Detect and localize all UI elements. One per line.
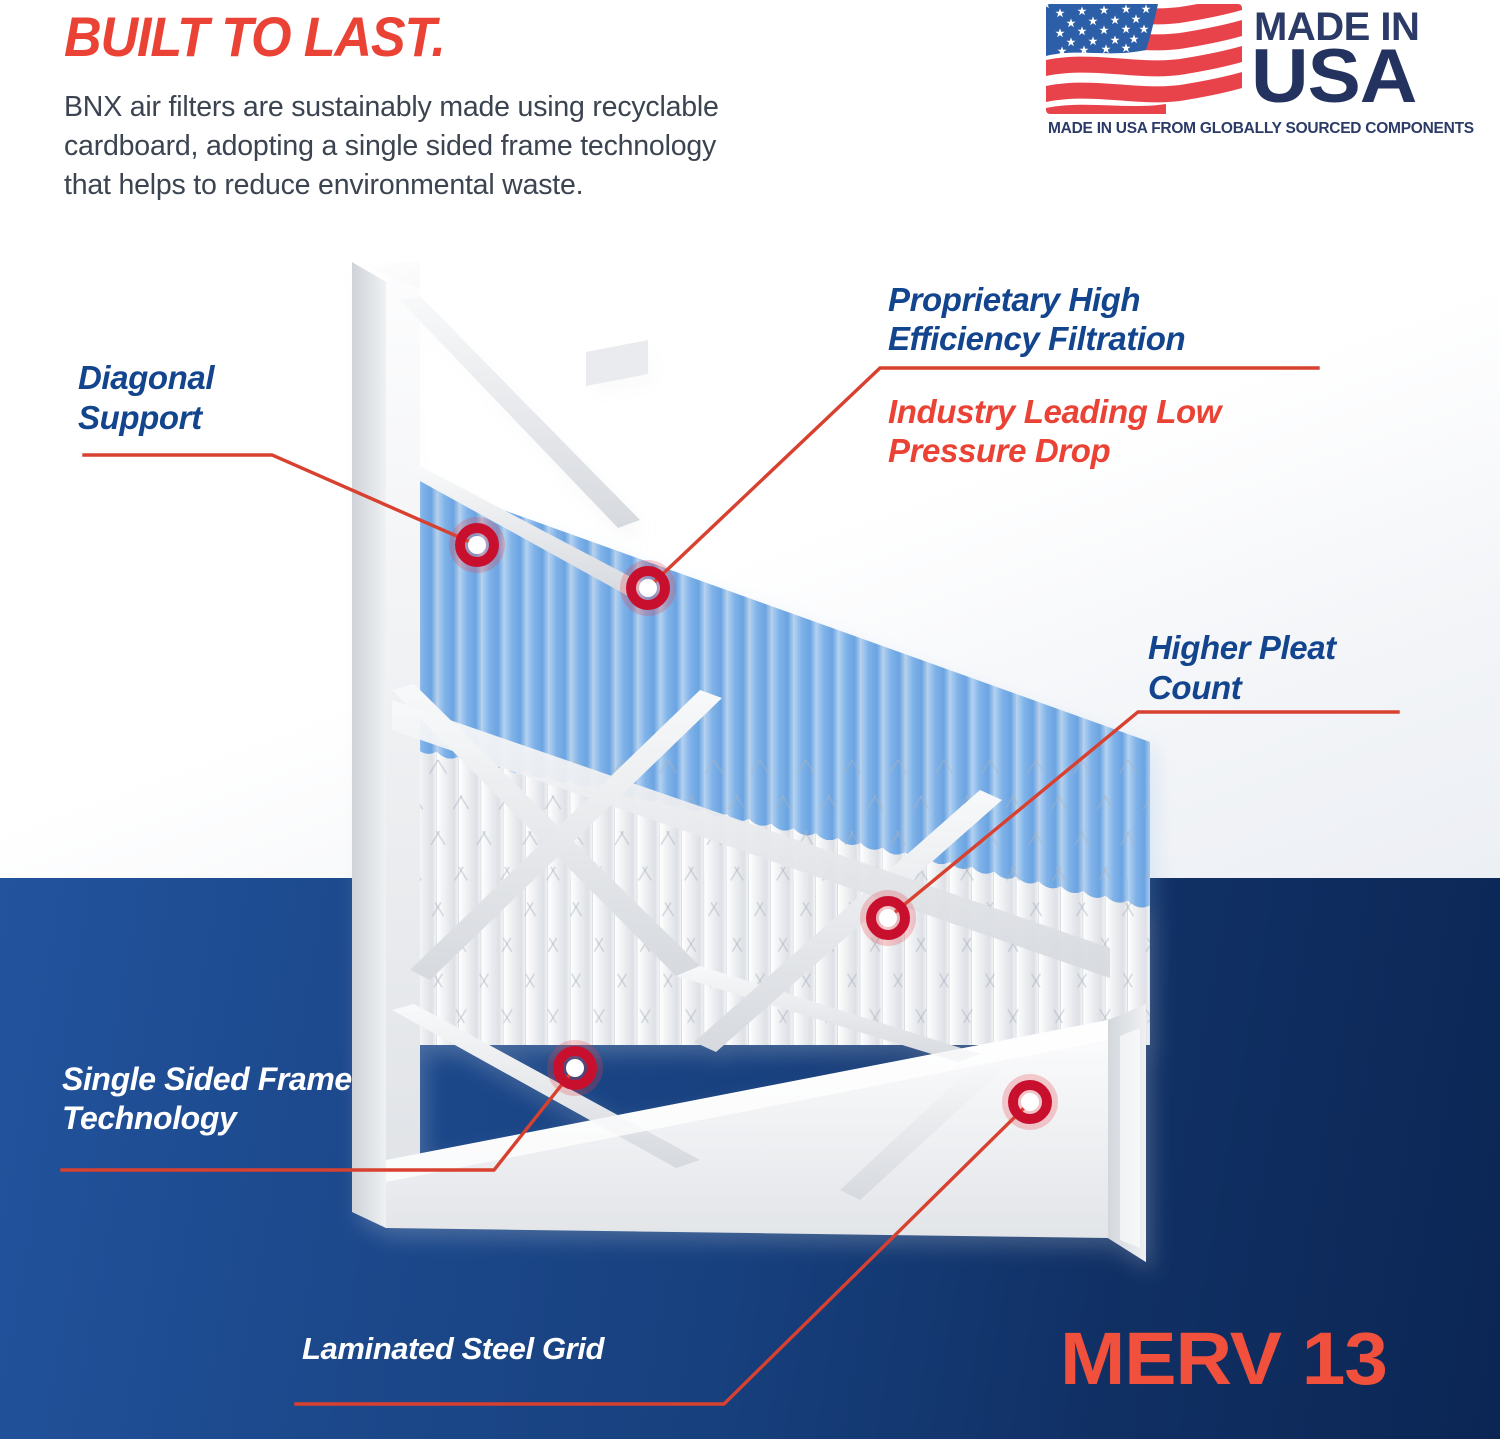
pleat-blue-tip <box>660 566 682 807</box>
frame-right-inner <box>1120 1028 1140 1248</box>
pleat-blue-tip <box>749 598 771 826</box>
pleat-blue-tip <box>793 614 815 836</box>
steel-grid-wire <box>24 760 324 1240</box>
pleat-blue-tip <box>1061 710 1083 893</box>
steel-grid-wire <box>1128 760 1428 1240</box>
pleat-blue-tip <box>860 638 882 850</box>
steel-grid-wire <box>1150 760 1450 1240</box>
steel-grid-wire <box>0 760 24 1240</box>
steel-grid-wire <box>1312 760 1500 1240</box>
steel-grid-wire <box>0 760 186 1240</box>
steel-grid-wire <box>0 760 300 1240</box>
steel-grid-wire <box>0 760 70 1240</box>
steel-grid-wire <box>70 760 370 1240</box>
steel-grid-wire <box>1426 760 1500 1240</box>
steel-grid-wire <box>1266 760 1500 1240</box>
steel-grid-wire <box>1404 760 1500 1240</box>
pleat-blue-tip <box>526 518 548 778</box>
callout-label-low-pressure-drop: Industry Leading Low Pressure Drop <box>888 392 1221 470</box>
pleat-blue-tip <box>726 590 748 821</box>
frame-left-side <box>352 262 386 1228</box>
steel-grid-wire <box>1334 760 1500 1240</box>
callout-label-single-sided-frame: Single Sided Frame Technology <box>62 1060 352 1138</box>
pleat-blue-tip <box>1128 734 1150 907</box>
steel-grid-wire <box>1358 760 1500 1240</box>
callout-label-higher-pleat-count: Higher Pleat Count <box>1148 628 1336 708</box>
pleat-blue-tip <box>816 622 838 840</box>
callout-label-diagonal-support: Diagonal Support <box>78 358 214 438</box>
steel-grid-wire <box>1472 760 1500 1240</box>
steel-grid-wire <box>1496 760 1500 1240</box>
pleat-blue-tip <box>1039 702 1061 888</box>
infographic-canvas: BUILT TO LAST. BNX air filters are susta… <box>0 0 1500 1439</box>
steel-grid-wire <box>0 760 116 1240</box>
steel-grid-wire <box>0 760 232 1240</box>
steel-grid-wire <box>1288 760 1500 1240</box>
pleat-blue-tip <box>994 686 1016 879</box>
steel-grid-wire <box>0 760 162 1240</box>
pleat-blue-tip <box>1016 694 1038 883</box>
pleat-blue-tip <box>548 526 570 783</box>
steel-grid-wire <box>0 760 48 1240</box>
steel-grid-wire <box>1380 760 1500 1240</box>
steel-grid-wire <box>0 760 254 1240</box>
pleat-blue-tip <box>503 510 525 773</box>
steel-grid-wire <box>1196 760 1496 1240</box>
callout-label-laminated-steel-grid: Laminated Steel Grid <box>302 1330 604 1368</box>
pleated-air-filter-illustration <box>0 0 1500 1439</box>
pleat-blue-tip <box>905 654 927 859</box>
steel-grid-wire <box>0 760 278 1240</box>
pleat-blue-tip <box>481 502 503 768</box>
steel-grid-wire <box>46 760 346 1240</box>
merv-rating-badge: MERV 13 <box>1060 1320 1387 1398</box>
pleat-blue-tip <box>838 630 860 845</box>
callout-label-proprietary-filtration: Proprietary High Efficiency Filtration <box>888 280 1185 358</box>
pleat-blue-tip <box>1083 718 1105 898</box>
steel-grid-wire <box>1174 760 1474 1240</box>
steel-grid-wire <box>1242 760 1500 1240</box>
pleat-blue-tip <box>459 494 481 764</box>
steel-grid-wire <box>0 760 208 1240</box>
steel-grid-wire <box>0 760 94 1240</box>
steel-grid-wire <box>92 760 392 1240</box>
frame-left-face <box>386 262 420 1228</box>
steel-grid-wire <box>1450 760 1500 1240</box>
steel-grid-wire <box>1220 760 1500 1240</box>
steel-grid-wire <box>0 760 140 1240</box>
pleat-blue-tip <box>882 646 904 855</box>
